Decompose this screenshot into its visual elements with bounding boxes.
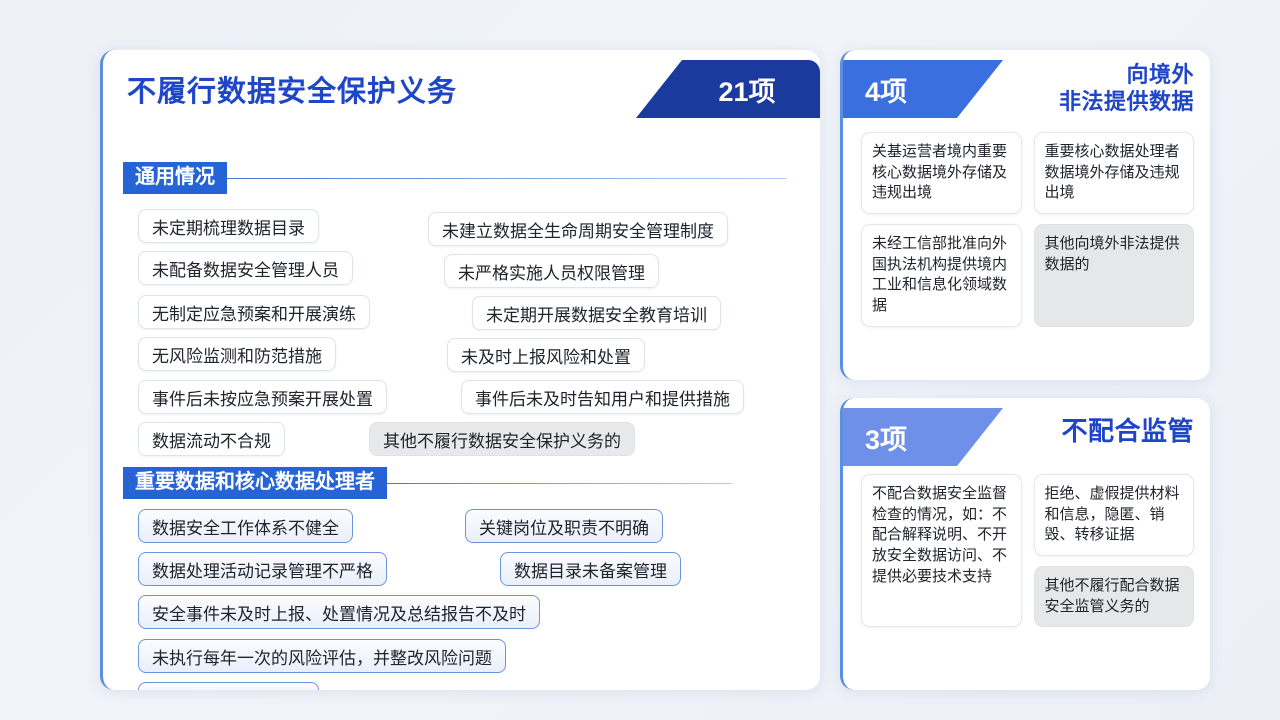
item-box[interactable]: 关基运营者境内重要核心数据境外存储及违规出境 <box>861 132 1022 214</box>
section-rule <box>227 178 787 179</box>
section-header-general: 通用情况 <box>123 162 787 194</box>
main-card: 不履行数据安全保护义务 21项 通用情况 未定期梳理数据目录 未配备数据安全管理… <box>100 50 820 690</box>
chip-item[interactable]: 未建立数据全生命周期安全管理制度 <box>428 212 728 246</box>
side-card-cross-border: 4项 向境外 非法提供数据 关基运营者境内重要核心数据境外存储及违规出境 重要核… <box>840 50 1210 380</box>
chip-item[interactable]: 关键岗位及职责不明确 <box>465 509 663 543</box>
page-title: 不履行数据安全保护义务 <box>127 68 457 110</box>
side-card-title-non-cooperation: 不配合监管 <box>1061 416 1194 448</box>
title-line-2: 非法提供数据 <box>1059 89 1194 116</box>
chip-item[interactable]: 风险评估报告不完整 <box>138 682 319 690</box>
chip-item[interactable]: 数据处理活动记录管理不严格 <box>138 552 387 586</box>
side-card-items-grid: 不配合数据安全监督检查的情况，如：不配合解释说明、不开放安全数据访问、不提供必要… <box>861 474 1194 678</box>
chip-item[interactable]: 数据安全工作体系不健全 <box>138 509 353 543</box>
section-tag-important-data: 重要数据和核心数据处理者 <box>123 467 387 499</box>
item-box-other[interactable]: 其他向境外非法提供数据的 <box>1034 224 1195 327</box>
chip-item[interactable]: 无制定应急预案和开展演练 <box>138 295 370 329</box>
side-card-non-cooperation: 3项 不配合监管 不配合数据安全监督检查的情况，如：不配合解释说明、不开放安全数… <box>840 398 1210 690</box>
section-tag-general: 通用情况 <box>123 162 227 194</box>
item-box[interactable]: 不配合数据安全监督检查的情况，如：不配合解释说明、不开放安全数据访问、不提供必要… <box>861 474 1022 627</box>
side-card-title-cross-border: 向境外 非法提供数据 <box>1059 62 1194 116</box>
section-rule <box>387 483 732 484</box>
item-box-other[interactable]: 其他不履行配合数据安全监管义务的 <box>1034 566 1195 627</box>
item-box[interactable]: 重要核心数据处理者数据境外存储及违规出境 <box>1034 132 1195 214</box>
count-badge-3: 3项 <box>843 408 1003 466</box>
chip-item[interactable]: 无风险监测和防范措施 <box>138 337 336 371</box>
side-card-items-grid: 关基运营者境内重要核心数据境外存储及违规出境 重要核心数据处理者数据境外存储及违… <box>861 132 1194 368</box>
item-box[interactable]: 拒绝、虚假提供材料和信息，隐匿、销毁、转移证据 <box>1034 474 1195 556</box>
title-line-1: 向境外 <box>1059 62 1194 89</box>
slide-canvas: 不履行数据安全保护义务 21项 通用情况 未定期梳理数据目录 未配备数据安全管理… <box>0 0 1280 720</box>
chip-item[interactable]: 未严格实施人员权限管理 <box>444 254 659 288</box>
chip-item[interactable]: 数据目录未备案管理 <box>500 552 681 586</box>
chip-item[interactable]: 数据流动不合规 <box>138 422 285 456</box>
count-badge-4: 4项 <box>843 60 1003 118</box>
chip-item[interactable]: 未定期开展数据安全教育培训 <box>472 296 721 330</box>
chip-item[interactable]: 未执行每年一次的风险评估，并整改风险问题 <box>138 639 506 673</box>
chip-item[interactable]: 未配备数据安全管理人员 <box>138 251 353 285</box>
chip-item-other[interactable]: 其他不履行数据安全保护义务的 <box>369 422 635 456</box>
section-header-important-data: 重要数据和核心数据处理者 <box>123 467 732 499</box>
chip-item[interactable]: 事件后未及时告知用户和提供措施 <box>461 380 744 414</box>
count-badge-21: 21项 <box>636 60 820 118</box>
chip-item[interactable]: 未及时上报风险和处置 <box>447 338 645 372</box>
chip-item[interactable]: 事件后未按应急预案开展处置 <box>138 380 387 414</box>
chip-item[interactable]: 未定期梳理数据目录 <box>138 209 319 243</box>
chip-item[interactable]: 安全事件未及时上报、处置情况及总结报告不及时 <box>138 595 540 629</box>
item-box[interactable]: 未经工信部批准向外国执法机构提供境内工业和信息化领域数据 <box>861 224 1022 327</box>
